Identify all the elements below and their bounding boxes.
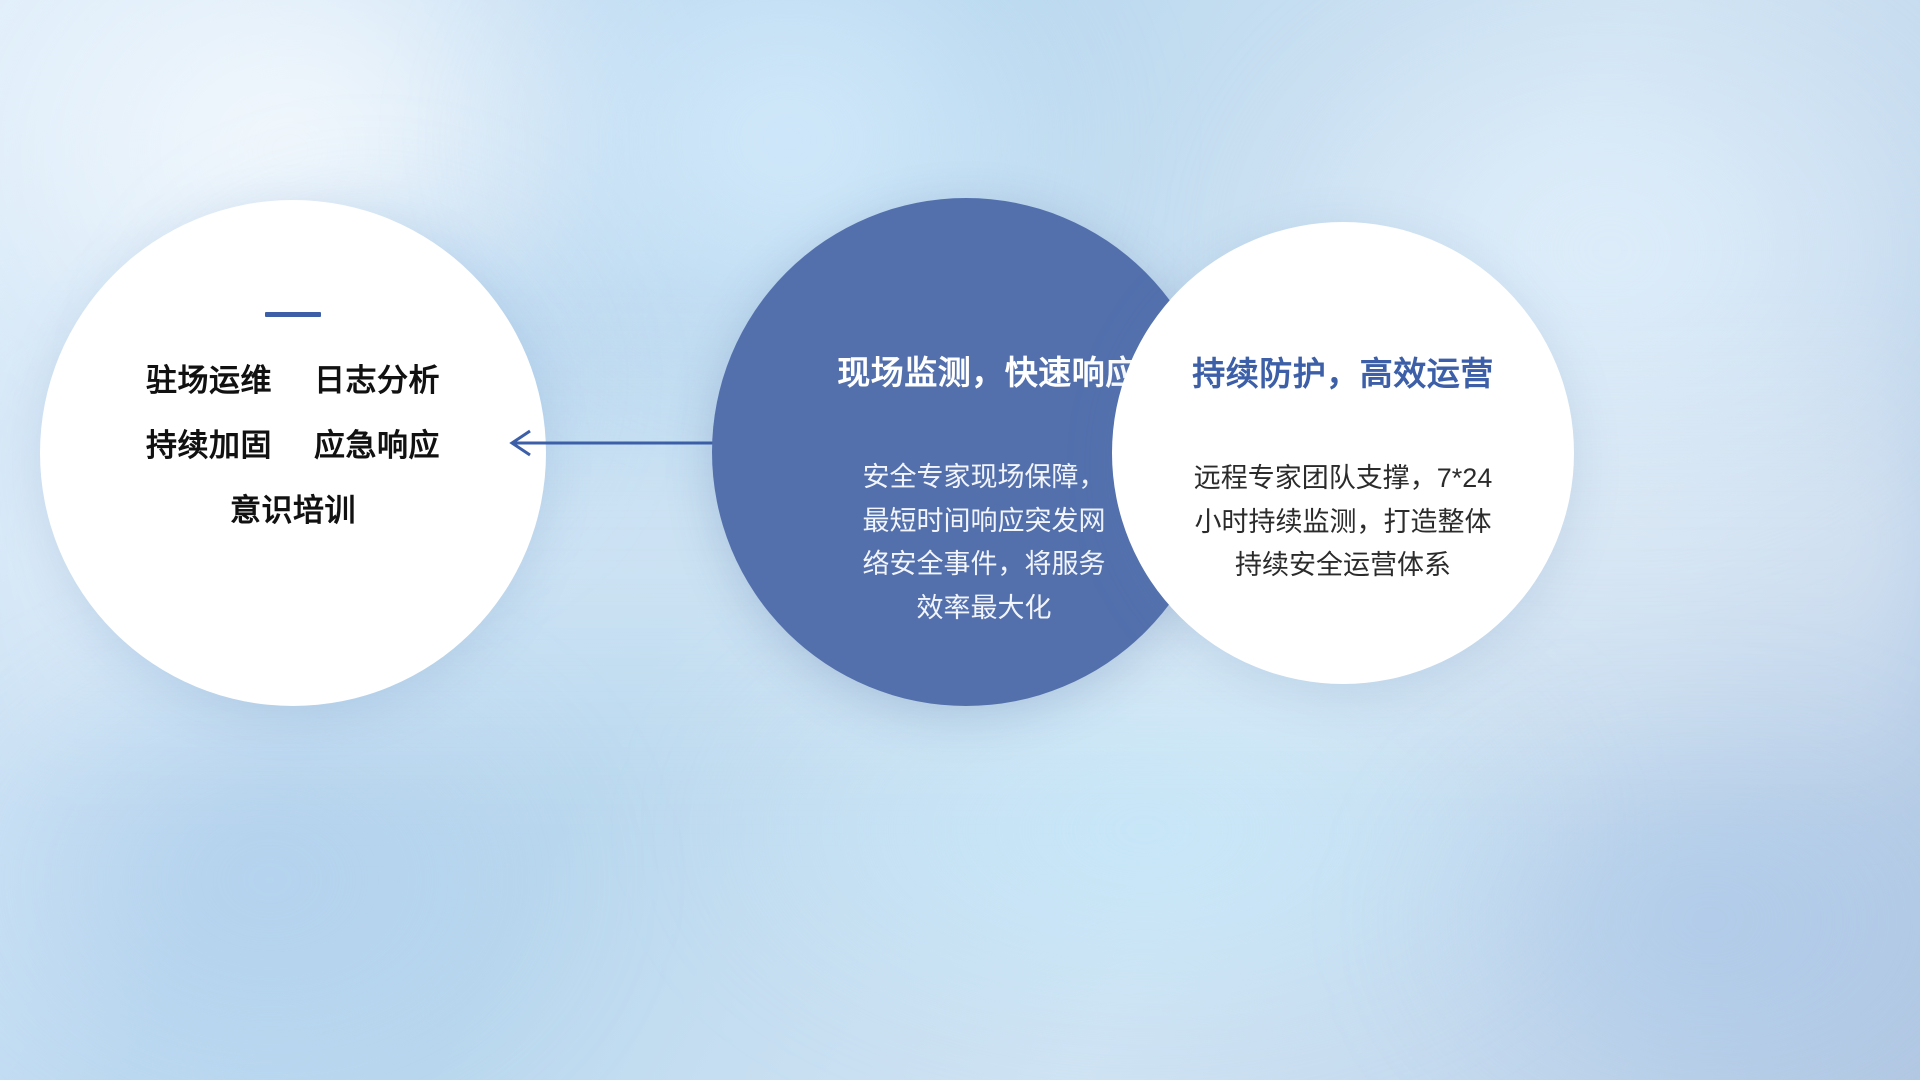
body-line: 最短时间响应突发网 bbox=[849, 500, 1119, 544]
continuous-protection-body: 远程专家团队支撑，7*24 小时持续监测，打造整体 持续安全运营体系 bbox=[1157, 457, 1529, 588]
body-line: 安全专家现场保障， bbox=[849, 456, 1119, 500]
tag-item[interactable]: 意识培训 bbox=[230, 495, 356, 526]
tag-item[interactable]: 应急响应 bbox=[314, 430, 440, 461]
slide-canvas: 驻场运维 日志分析 持续加固 应急响应 意识培训 现场监测，快速响应 安全专家现… bbox=[0, 0, 1920, 1080]
onsite-monitoring-body: 安全专家现场保障， 最短时间响应突发网 络安全事件，将服务 效率最大化 bbox=[849, 456, 1119, 631]
tag-row: 意识培训 bbox=[40, 495, 546, 526]
left-arrow-icon bbox=[486, 412, 726, 474]
continuous-protection-title: 持续防护，高效运营 bbox=[1140, 347, 1546, 395]
continuous-protection-content: 持续防护，高效运营 远程专家团队支撑，7*24 小时持续监测，打造整体 持续安全… bbox=[1112, 347, 1574, 588]
body-line: 络安全事件，将服务 bbox=[849, 543, 1119, 587]
tag-item[interactable]: 日志分析 bbox=[314, 365, 440, 396]
capability-tags-circle[interactable]: 驻场运维 日志分析 持续加固 应急响应 意识培训 bbox=[40, 200, 546, 706]
body-line: 持续安全运营体系 bbox=[1157, 544, 1529, 588]
tag-row: 驻场运维 日志分析 bbox=[40, 365, 546, 396]
continuous-protection-circle[interactable]: 持续防护，高效运营 远程专家团队支撑，7*24 小时持续监测，打造整体 持续安全… bbox=[1112, 222, 1574, 684]
tag-item[interactable]: 驻场运维 bbox=[146, 365, 272, 396]
tag-row: 持续加固 应急响应 bbox=[40, 430, 546, 461]
body-line: 小时持续监测，打造整体 bbox=[1157, 501, 1529, 545]
tag-item[interactable]: 持续加固 bbox=[146, 430, 272, 461]
capability-tags-content: 驻场运维 日志分析 持续加固 应急响应 意识培训 bbox=[40, 312, 546, 560]
body-line: 效率最大化 bbox=[849, 587, 1119, 631]
body-line: 远程专家团队支撑，7*24 bbox=[1157, 457, 1529, 501]
horizontal-dash-icon bbox=[265, 312, 321, 317]
connector-arrow bbox=[486, 412, 726, 474]
